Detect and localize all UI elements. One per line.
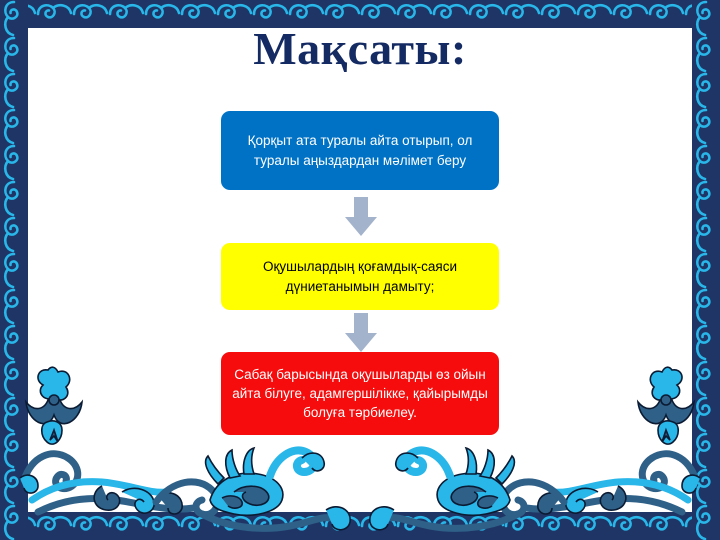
objective-box-blue: Қорқыт ата туралы айта отырып, ол туралы… (221, 111, 499, 190)
flow-arrow-down-2 (344, 313, 378, 353)
arrow-down-icon (344, 313, 378, 353)
wave-scroll-border-icon (0, 512, 720, 540)
border-right (692, 0, 720, 540)
objective-box-red-text: Сабақ барысында оқушыларды өз ойын айта … (231, 365, 489, 422)
objective-box-yellow: Оқушылардың қоғамдық-саяси дүниетанымын … (221, 243, 499, 310)
objective-box-yellow-text: Оқушылардың қоғамдық-саяси дүниетанымын … (231, 257, 489, 295)
border-left (0, 0, 28, 540)
flow-arrow-down-1 (344, 197, 378, 237)
slide-canvas: Мақсаты: Қорқыт ата туралы айта отырып, … (0, 0, 720, 540)
page-title: Мақсаты: (0, 22, 720, 75)
arrow-down-icon (344, 197, 378, 237)
objective-box-red: Сабақ барысында оқушыларды өз ойын айта … (221, 352, 499, 435)
objective-box-blue-text: Қорқыт ата туралы айта отырып, ол туралы… (231, 131, 489, 169)
border-bottom (0, 512, 720, 540)
wave-scroll-border-icon (692, 0, 720, 540)
wave-scroll-border-icon (0, 0, 28, 540)
